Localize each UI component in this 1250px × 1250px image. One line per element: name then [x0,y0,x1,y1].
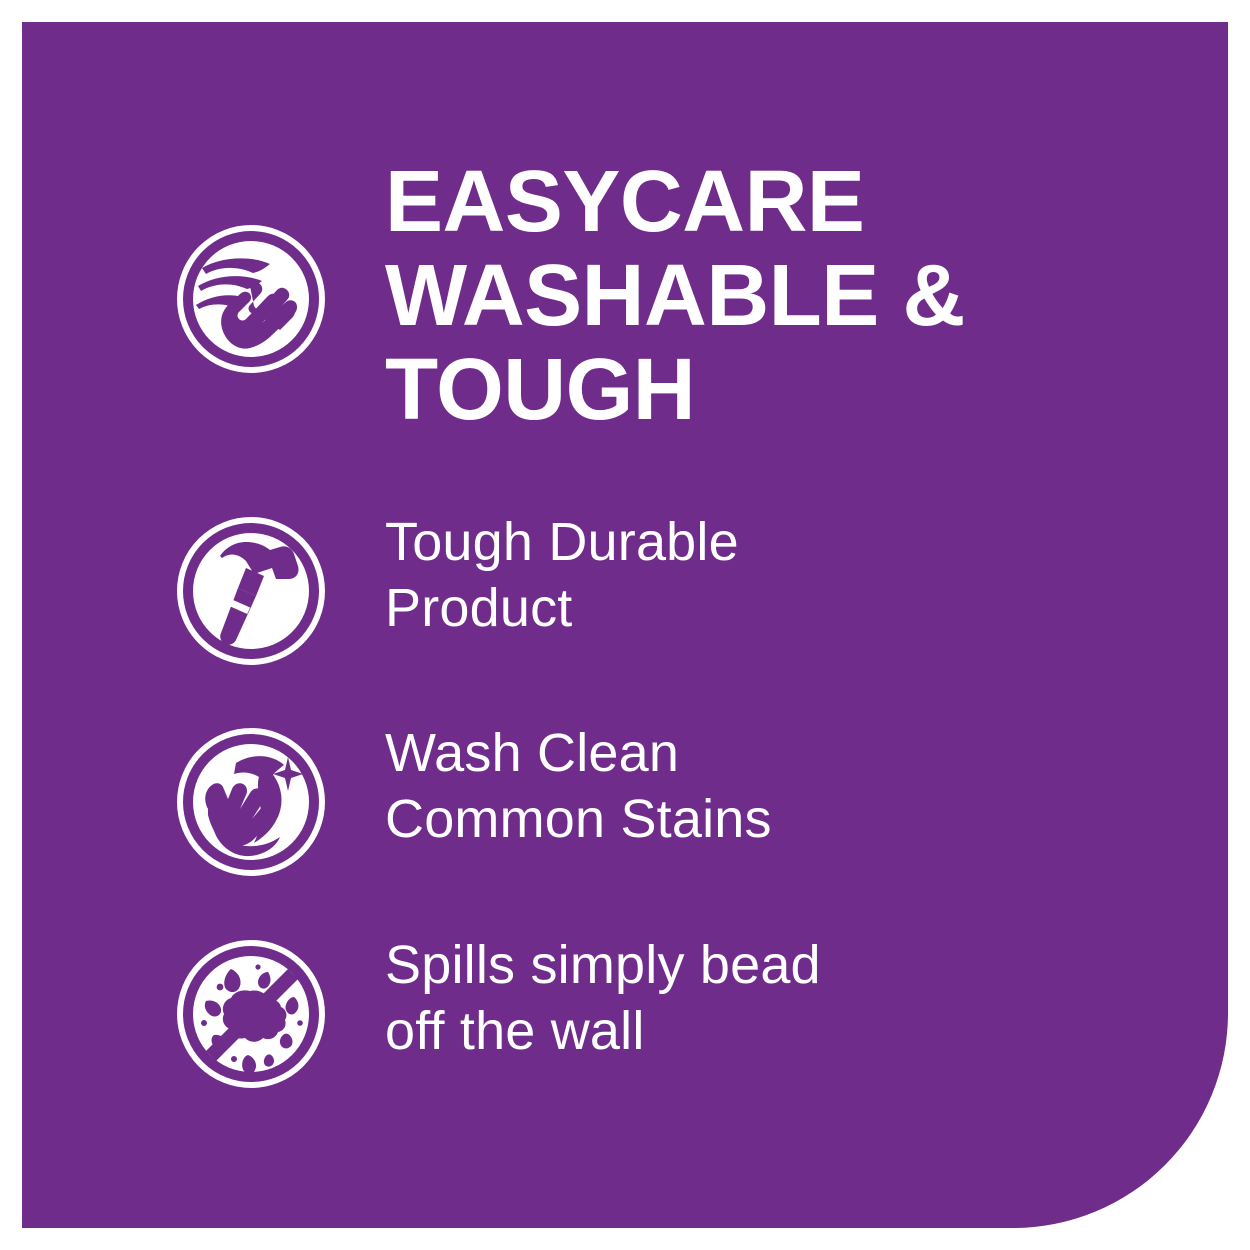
page-title: EASYCARE WASHABLE & TOUGH [385,155,1105,437]
feature-row: Tough Durable Product [22,502,1228,672]
feature-row: Spills simply bead off the wall [22,927,1228,1097]
wiping-hand-sparkle-icon [176,727,326,877]
feature-label: Tough Durable Product [385,509,1085,641]
feature-label: Wash Clean Common Stains [385,720,1085,852]
washing-hands-icon [176,224,326,374]
feature-label: Spills simply bead off the wall [385,932,1085,1064]
no-splatter-icon [176,939,326,1089]
feature-row: Wash Clean Common Stains [22,715,1228,885]
easycare-feature-panel: EASYCARE WASHABLE & TOUGH Tough Durable … [22,22,1228,1228]
hammer-icon [176,516,326,666]
